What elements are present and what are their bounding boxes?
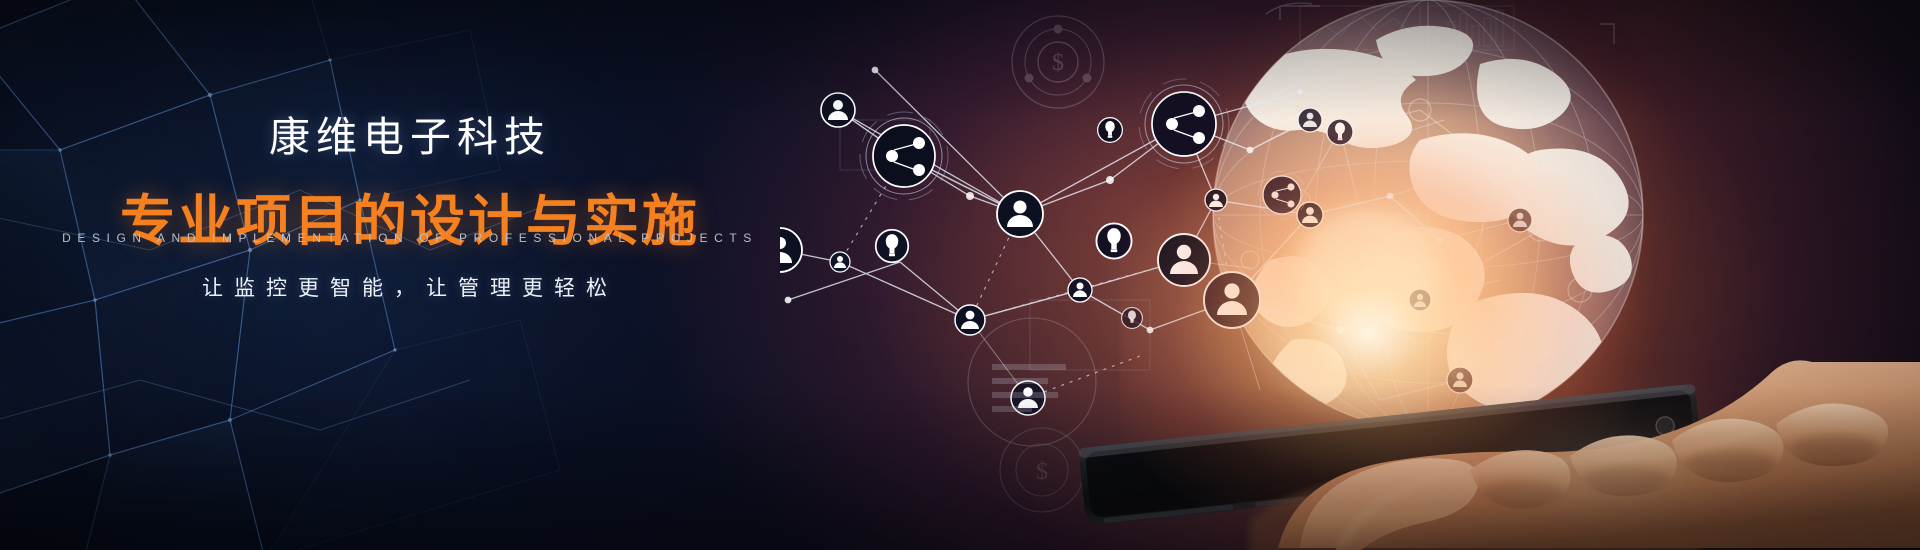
company-name: 康维电子科技 xyxy=(0,103,820,163)
hero-banner: $ $ xyxy=(0,0,1920,550)
english-subtitle: DESIGN AND IMPLEMENTATION OF PROFESSIONA… xyxy=(0,231,820,245)
hero-copy: 康维电子科技 专业项目的设计与实施 DESIGN AND IMPLEMENTAT… xyxy=(0,0,820,550)
tagline: 让监控更智能，让管理更轻松 xyxy=(0,272,820,302)
